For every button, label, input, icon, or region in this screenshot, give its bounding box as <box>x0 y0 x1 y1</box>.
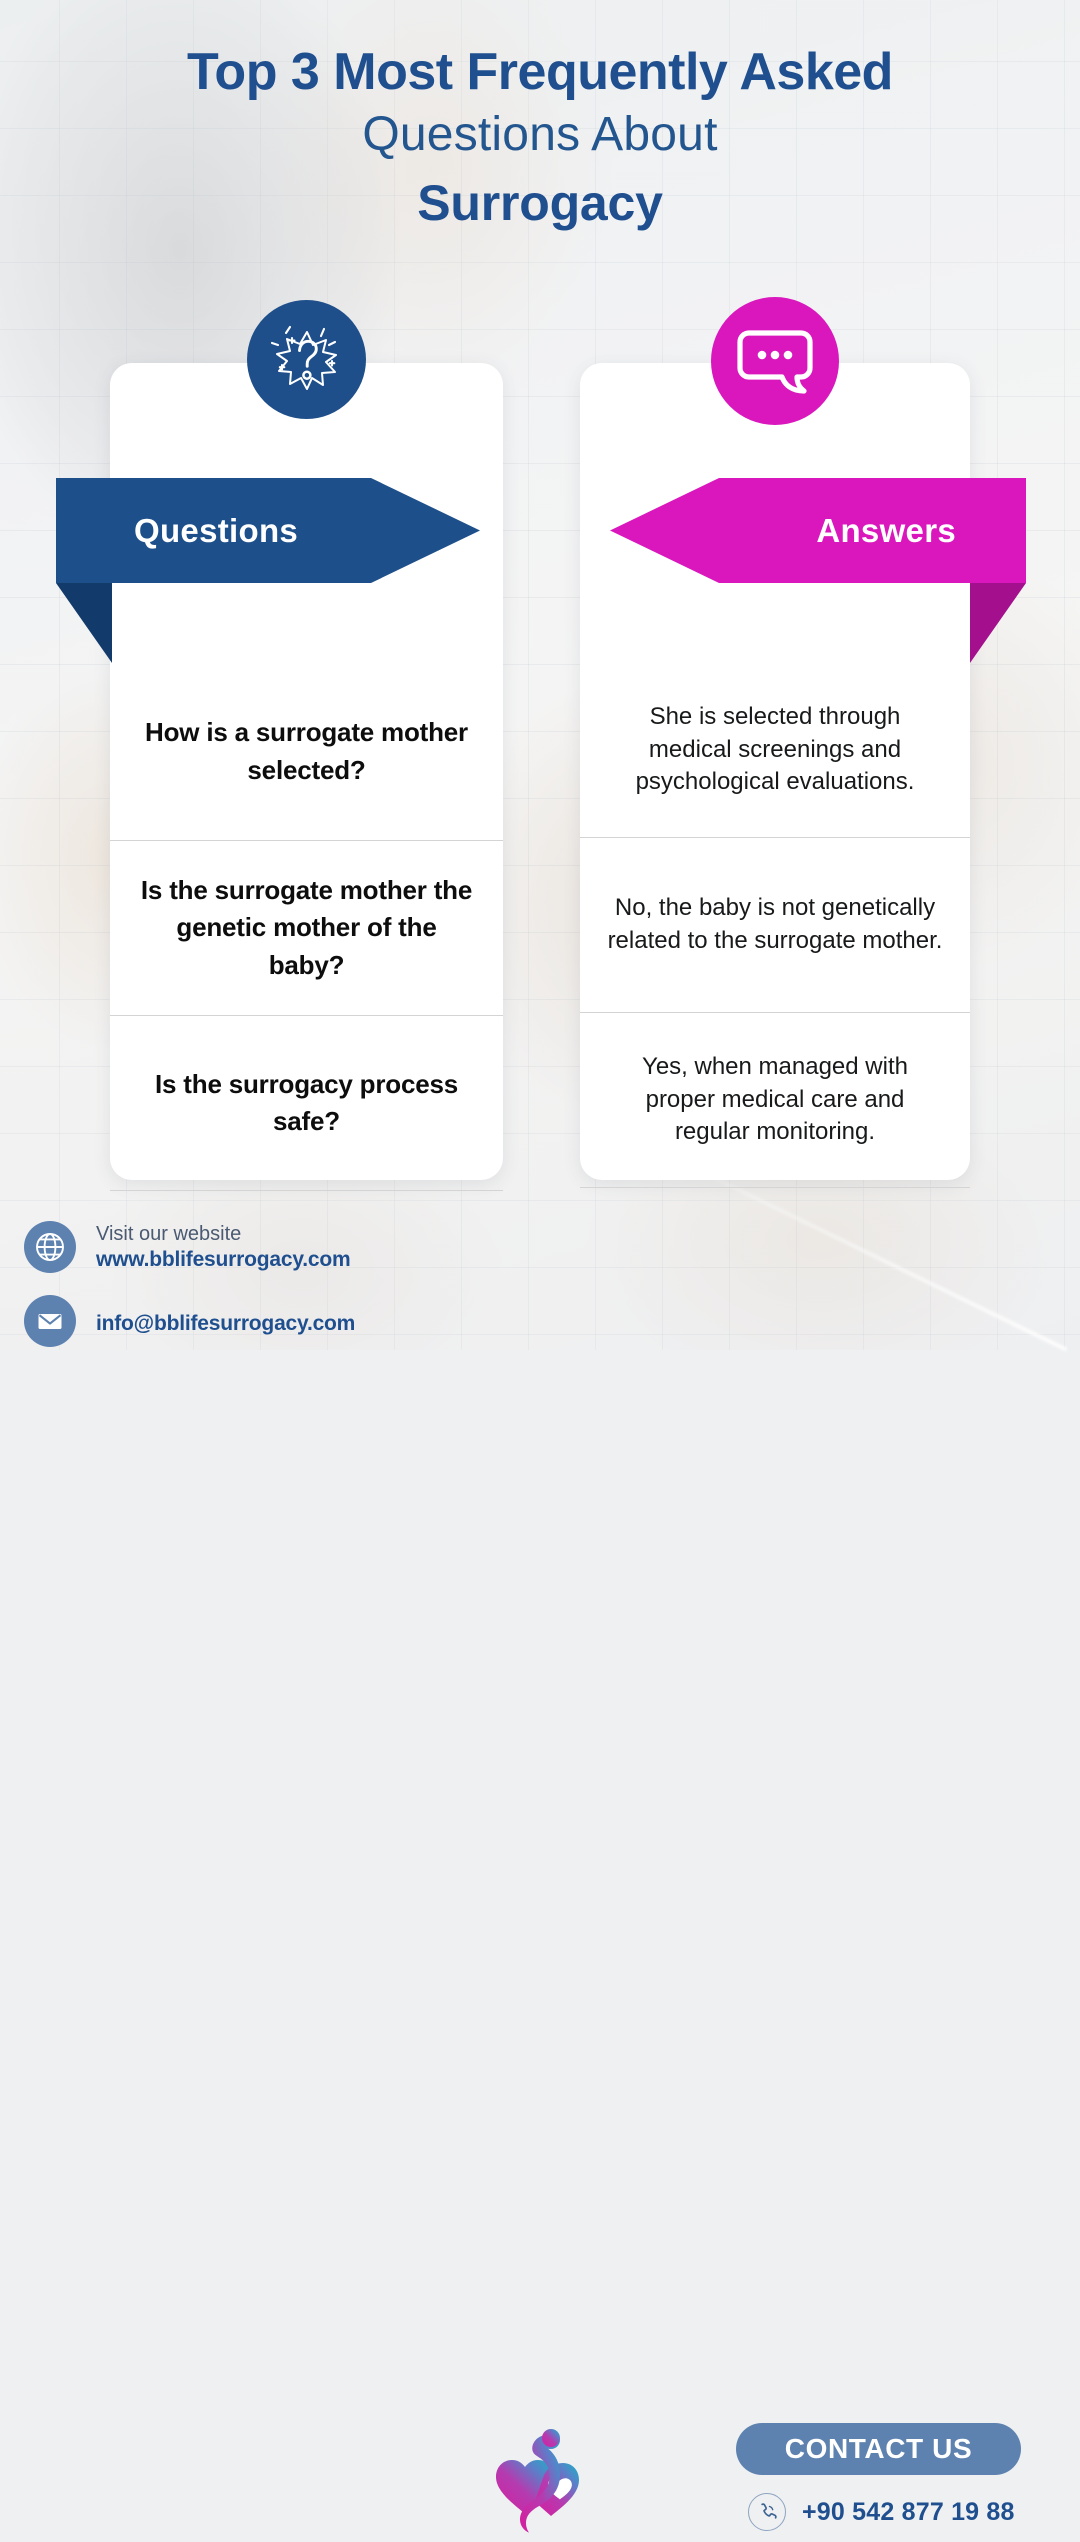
speech-bubble-glyph <box>733 321 817 401</box>
answers-banner: Answers <box>610 478 1026 583</box>
footer: Visit our website www.bblifesurrogacy.co… <box>0 1205 1080 1350</box>
website-label: Visit our website <box>96 1222 350 1246</box>
questions-list: How is a surrogate mother selected? Is t… <box>110 663 503 1180</box>
contact-us-button[interactable]: CONTACT US <box>736 2423 1021 2475</box>
pregnant-woman-hearts-logo <box>492 2427 596 2537</box>
website-text-group: Visit our website www.bblifesurrogacy.co… <box>96 1222 350 1272</box>
list-item[interactable]: No, the baby is not genetically related … <box>580 838 970 1013</box>
page-title: Top 3 Most Frequently Asked Questions Ab… <box>0 44 1080 237</box>
email-contact-row[interactable]: info@bblifesurrogacy.com <box>24 1295 355 1347</box>
phone-glyph <box>756 2501 778 2523</box>
title-line-3: Surrogacy <box>0 170 1080 238</box>
phone-handset-icon <box>748 2493 786 2531</box>
questions-banner-label: Questions <box>134 478 298 583</box>
speech-bubble-dots-icon <box>711 297 839 425</box>
logo-glyph <box>492 2427 596 2537</box>
globe-icon <box>24 1221 76 1273</box>
question-text: Is the surrogacy process safe? <box>136 1066 477 1141</box>
questions-banner: Questions <box>56 478 480 583</box>
answers-list: She is selected through medical screenin… <box>580 663 970 1180</box>
title-line-1: Top 3 Most Frequently Asked <box>0 44 1080 100</box>
globe-glyph <box>33 1230 67 1264</box>
answers-banner-label: Answers <box>816 478 956 583</box>
answer-text: No, the baby is not genetically related … <box>606 892 944 958</box>
envelope-icon <box>24 1295 76 1347</box>
question-text: Is the surrogate mother the genetic moth… <box>136 872 477 984</box>
list-item[interactable]: Is the surrogate mother the genetic moth… <box>110 841 503 1016</box>
list-item[interactable]: She is selected through medical screenin… <box>580 663 970 838</box>
list-item[interactable]: How is a surrogate mother selected? <box>110 663 503 841</box>
website-url[interactable]: www.bblifesurrogacy.com <box>96 1248 350 1272</box>
envelope-glyph <box>34 1305 66 1337</box>
question-burst-glyph <box>266 319 348 401</box>
answer-text: She is selected through medical screenin… <box>606 701 944 800</box>
list-item[interactable]: Is the surrogacy process safe? <box>110 1016 503 1191</box>
email-text-group: info@bblifesurrogacy.com <box>96 1306 355 1336</box>
phone-number[interactable]: +90 542 877 19 88 <box>802 2498 1015 2527</box>
email-address[interactable]: info@bblifesurrogacy.com <box>96 1312 355 1336</box>
question-text: How is a surrogate mother selected? <box>136 714 477 789</box>
phone-contact-row[interactable]: +90 542 877 19 88 <box>748 2493 1015 2531</box>
list-item[interactable]: Yes, when managed with proper medical ca… <box>580 1013 970 1188</box>
website-contact-row[interactable]: Visit our website www.bblifesurrogacy.co… <box>24 1221 350 1273</box>
title-line-2: Questions About <box>0 100 1080 170</box>
question-mark-burst-icon <box>247 300 366 419</box>
answer-text: Yes, when managed with proper medical ca… <box>606 1051 944 1150</box>
